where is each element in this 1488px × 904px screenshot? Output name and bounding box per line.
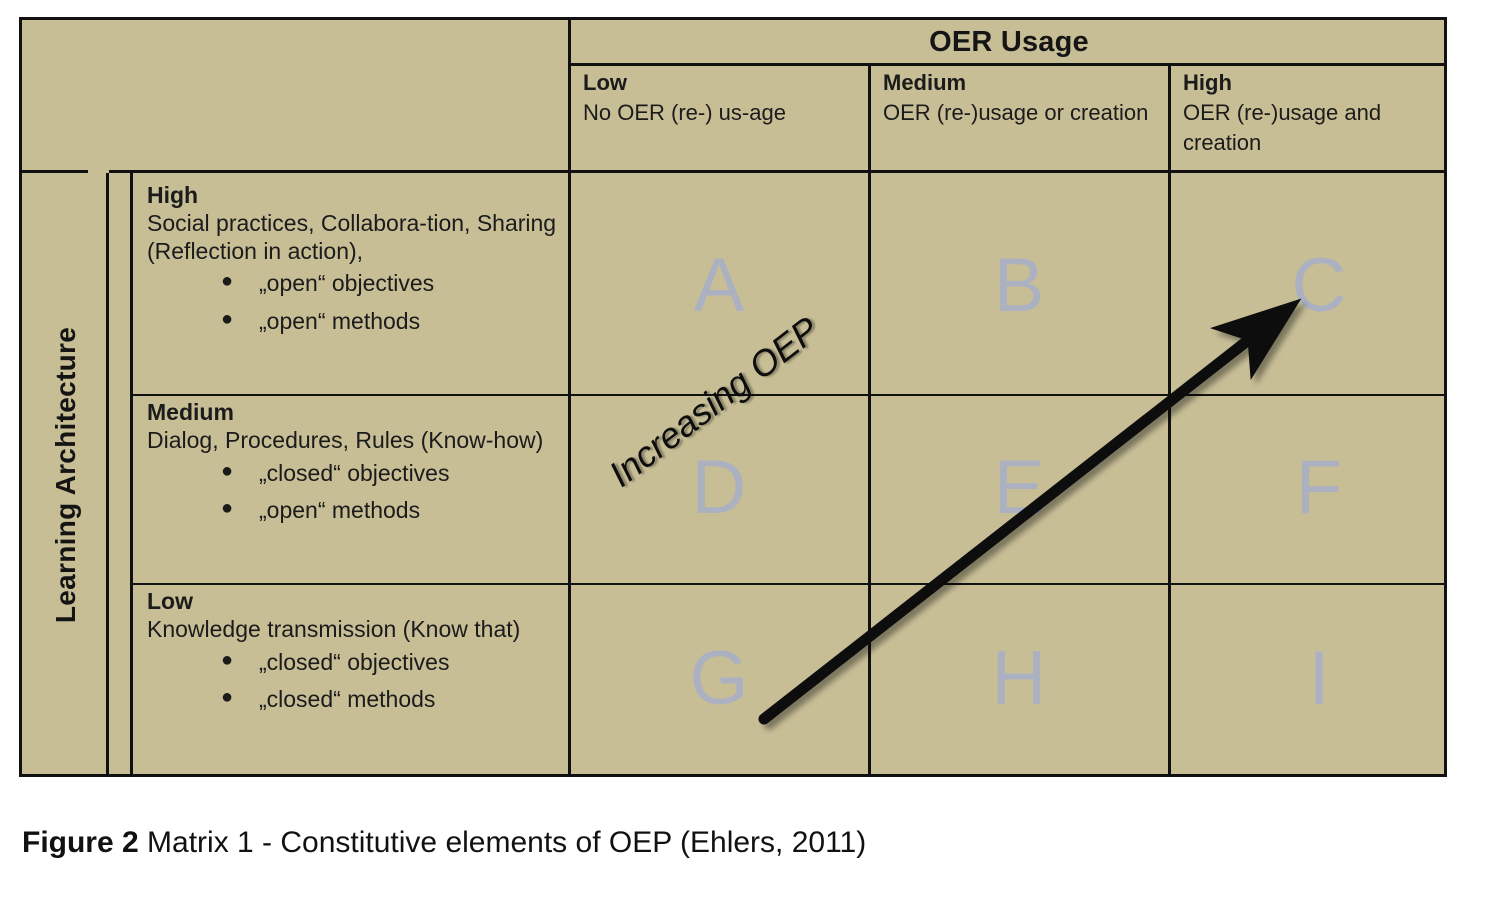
column-header-high: High OER (re-)usage and creation: [1171, 68, 1451, 163]
column-header-medium: Medium OER (re-)usage or creation: [871, 68, 1167, 163]
figure-caption: Figure 2 Matrix 1 - Constitutive element…: [22, 826, 866, 860]
row-header-medium-title: Medium: [147, 399, 561, 427]
header-divider-line: [568, 63, 1447, 66]
row-header-high-description: Social practices, Collabora-tion, Sharin…: [147, 210, 561, 266]
header-bottom-line-left: [22, 170, 88, 173]
figure-2-matrix: OER Usage Low No OER (re-) us-age Medium…: [19, 17, 1447, 777]
grid-line-col2: [868, 63, 871, 777]
header-bottom-line-right: [109, 170, 1447, 173]
bullet-icon: ●: [221, 644, 233, 676]
matrix-cell-f[interactable]: F: [1171, 395, 1467, 580]
bullet-icon: ●: [221, 681, 233, 713]
matrix-cell-b[interactable]: B: [871, 178, 1167, 393]
column-header-low: Low No OER (re-) us-age: [571, 68, 867, 163]
list-item: ● „closed“ objectives: [147, 644, 561, 681]
grid-line-col1: [568, 20, 571, 777]
row-axis-title-text: Learning Architecture: [50, 327, 82, 623]
row-header-medium-description: Dialog, Procedures, Rules (Know-how): [147, 427, 561, 455]
column-header-high-title: High: [1183, 68, 1451, 97]
matrix-cell-g[interactable]: G: [571, 586, 867, 771]
grid-line-col3: [1168, 63, 1171, 777]
row-header-low-title: Low: [147, 588, 561, 616]
bullet-icon: ●: [221, 265, 233, 297]
row-axis-title: Learning Architecture: [24, 175, 108, 775]
row-header-high-bullets: ● „open“ objectives ● „open“ methods: [147, 265, 561, 340]
row-header-low-description: Knowledge transmission (Know that): [147, 616, 561, 644]
row-header-low: Low Knowledge transmission (Know that) ●…: [133, 584, 569, 718]
column-axis-title: OER Usage: [571, 22, 1447, 62]
bullet-icon: ●: [221, 303, 233, 335]
list-item: ● „open“ objectives: [147, 265, 561, 302]
list-item-label: „open“ methods: [259, 497, 420, 523]
row-header-high: High Social practices, Collabora-tion, S…: [133, 178, 569, 340]
figure-caption-text: Matrix 1 - Constitutive elements of OEP …: [139, 826, 867, 859]
row-header-medium: Medium Dialog, Procedures, Rules (Know-h…: [133, 395, 569, 529]
column-header-low-description: No OER (re-) us-age: [583, 98, 867, 127]
matrix-cell-c[interactable]: C: [1171, 178, 1467, 393]
column-header-high-description: OER (re-)usage and creation: [1183, 98, 1451, 157]
list-item-label: „closed“ objectives: [259, 460, 449, 486]
column-header-low-title: Low: [583, 68, 867, 97]
matrix-cell-d[interactable]: D: [571, 395, 867, 580]
list-item: ● „closed“ objectives: [147, 455, 561, 492]
list-item-label: „open“ methods: [259, 308, 420, 334]
list-item-label: „open“ objectives: [259, 270, 434, 296]
bullet-icon: ●: [221, 455, 233, 487]
bullet-icon: ●: [221, 492, 233, 524]
row-header-low-bullets: ● „closed“ objectives ● „closed“ methods: [147, 644, 561, 719]
list-item-label: „closed“ objectives: [259, 649, 449, 675]
column-header-medium-title: Medium: [883, 68, 1167, 97]
matrix-cell-h[interactable]: H: [871, 586, 1167, 771]
grid-line-axis-divider: [106, 173, 109, 777]
figure-caption-label: Figure 2: [22, 826, 139, 859]
grid-line-row1: [130, 394, 1447, 396]
list-item-label: „closed“ methods: [259, 686, 435, 712]
row-header-high-title: High: [147, 182, 561, 210]
matrix-cell-a[interactable]: A: [571, 178, 867, 393]
grid-line-row2: [130, 583, 1447, 585]
matrix-cell-i[interactable]: I: [1171, 586, 1467, 771]
list-item: ● „open“ methods: [147, 303, 561, 340]
matrix-cell-e[interactable]: E: [871, 395, 1167, 580]
column-header-medium-description: OER (re-)usage or creation: [883, 98, 1167, 127]
list-item: ● „open“ methods: [147, 492, 561, 529]
row-header-medium-bullets: ● „closed“ objectives ● „open“ methods: [147, 455, 561, 530]
grid-line-rowdesc-divider: [130, 173, 133, 777]
list-item: ● „closed“ methods: [147, 681, 561, 718]
oep-matrix-table: OER Usage Low No OER (re-) us-age Medium…: [19, 17, 1447, 777]
